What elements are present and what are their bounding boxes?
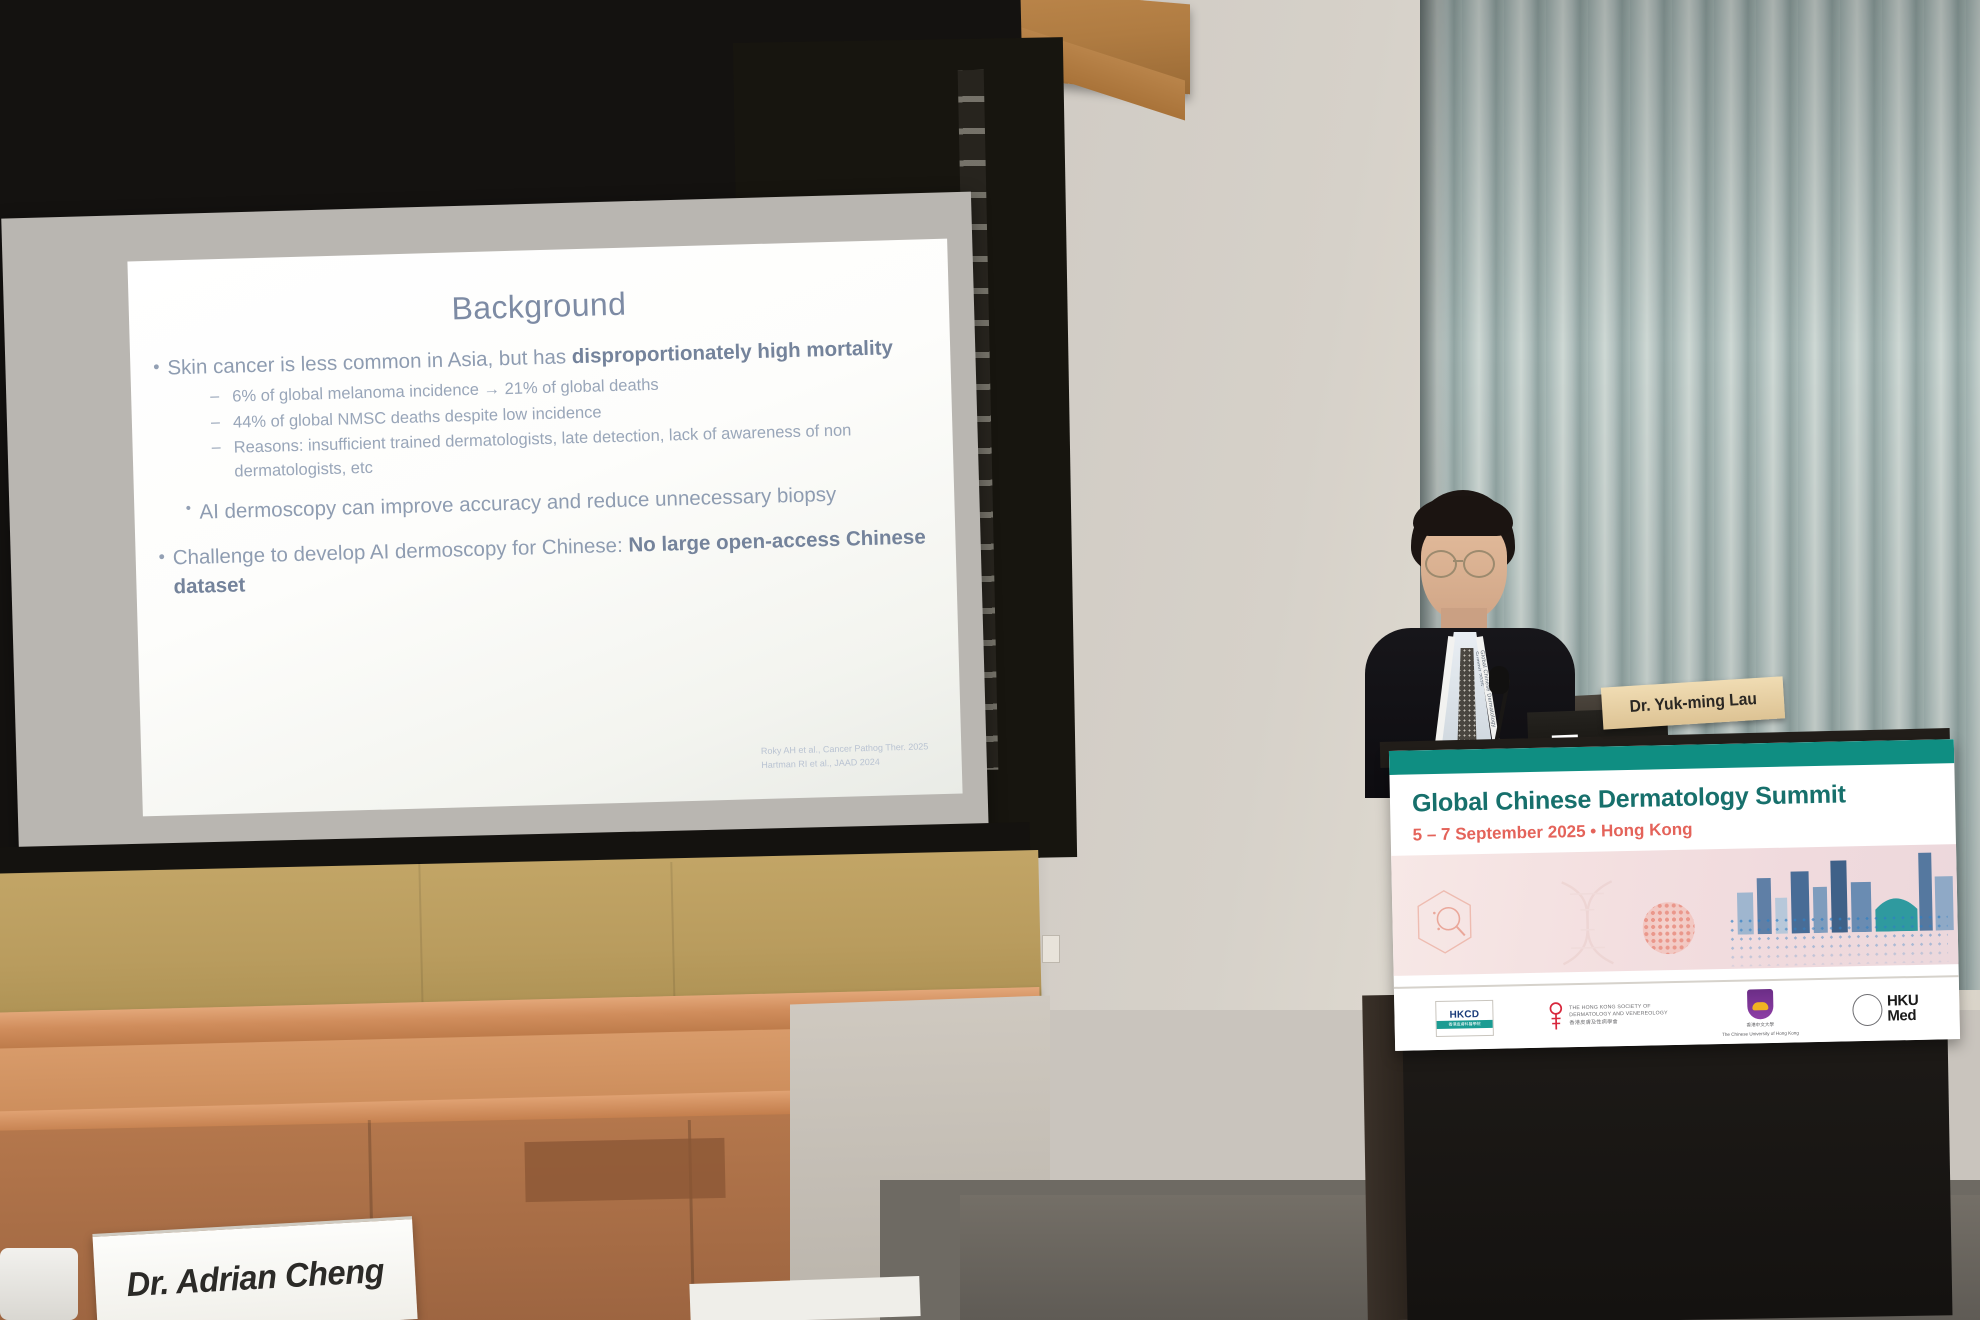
bullet-glyph: • <box>177 497 200 519</box>
table-nameplate: Dr. Adrian Cheng <box>92 1216 417 1320</box>
cuhk-phoenix-icon <box>1752 1002 1768 1010</box>
caduceus-icon <box>1547 1001 1565 1031</box>
sponsor-logo-cuhk: 香港中文大學 The Chinese University of Hong Ko… <box>1721 988 1799 1037</box>
hksdv-chinese: 香港皮膚及性病學會 <box>1569 1018 1668 1028</box>
slide-title: Background <box>144 277 935 336</box>
cuhk-subtitle: The Chinese University of Hong Kong <box>1722 1030 1799 1037</box>
cuhk-shield-icon <box>1746 988 1773 1019</box>
dash-glyph: – <box>211 436 234 461</box>
speaker-fringe <box>1413 496 1513 536</box>
dash-glyph: – <box>211 410 234 435</box>
cuhk-chinese: 香港中文大學 <box>1746 1021 1774 1028</box>
desk-clock <box>0 1248 78 1320</box>
presentation-slide: Background • Skin cancer is less common … <box>143 247 948 804</box>
banner-graphic-band <box>1391 844 1958 976</box>
hkcd-name: HKCD <box>1449 1009 1479 1021</box>
bullet-1-plain: Skin cancer is less common in Asia, but … <box>167 345 572 379</box>
slide-bullet-2-text: AI dermoscopy can improve accuracy and r… <box>199 477 940 527</box>
slide-citations: Roky AH et al., Cancer Pathog Ther. 2025… <box>761 741 929 774</box>
dash-glyph: – <box>210 385 233 410</box>
hkcd-subtitle: 香港皮膚科醫學院 <box>1436 1019 1492 1028</box>
slide-bullet-2: • AI dermoscopy can improve accuracy and… <box>177 477 940 527</box>
microphone-icon <box>1489 666 1509 694</box>
glasses-left-lens <box>1425 550 1457 578</box>
wall-outlet <box>1042 935 1060 963</box>
slide-bullet-3: • Challenge to develop AI dermoscopy for… <box>150 522 941 602</box>
dna-helix-icon <box>1542 876 1654 968</box>
hku-crest-icon <box>1852 994 1883 1027</box>
cell-cluster-icon <box>1642 901 1695 954</box>
bullet-glyph: • <box>150 543 173 570</box>
skyline-dot-pattern <box>1727 912 1948 967</box>
sponsor-logo-hksdv: THE HONG KONG SOCIETY OF DERMATOLOGY AND… <box>1547 999 1668 1032</box>
sponsor-logo-row: HKCD 香港皮膚科醫學院 THE HONG KONG SOCIETY OF D… <box>1394 975 1960 1051</box>
cabinet-recess <box>524 1138 725 1202</box>
glasses-right-lens <box>1463 550 1495 578</box>
skin-lesion-magnifier-icon <box>1414 888 1475 955</box>
lectern-nameplate-text: Dr. Yuk-ming Lau <box>1629 689 1757 717</box>
banner-title: Global Chinese Dermatology Summit <box>1412 780 1933 818</box>
banner-dates-location: 5 – 7 September 2025 • Hong Kong <box>1412 814 1933 845</box>
conference-photo: Background • Skin cancer is less common … <box>0 0 1980 1320</box>
sponsor-logo-hkumed: HKU Med <box>1852 993 1919 1026</box>
lectern-body <box>1403 1025 1953 1320</box>
foreground-table <box>689 1276 920 1320</box>
glasses-bridge <box>1453 560 1463 562</box>
sponsor-logo-hkcd: HKCD 香港皮膚科醫學院 <box>1435 1000 1494 1037</box>
hku-med: Med <box>1887 1009 1919 1024</box>
podium-banner: Global Chinese Dermatology Summit 5 – 7 … <box>1389 739 1960 1051</box>
bullet-1-bold: disproportionately high mortality <box>571 336 893 368</box>
bullet-3-plain: Challenge to develop AI dermoscopy for C… <box>172 534 628 570</box>
hkcd-badge-icon: HKCD 香港皮膚科醫學院 <box>1435 1000 1494 1037</box>
table-nameplate-text: Dr. Adrian Cheng <box>125 1251 384 1304</box>
bullet-glyph: • <box>145 353 168 380</box>
slide-bullet-3-text: Challenge to develop AI dermoscopy for C… <box>172 522 941 602</box>
